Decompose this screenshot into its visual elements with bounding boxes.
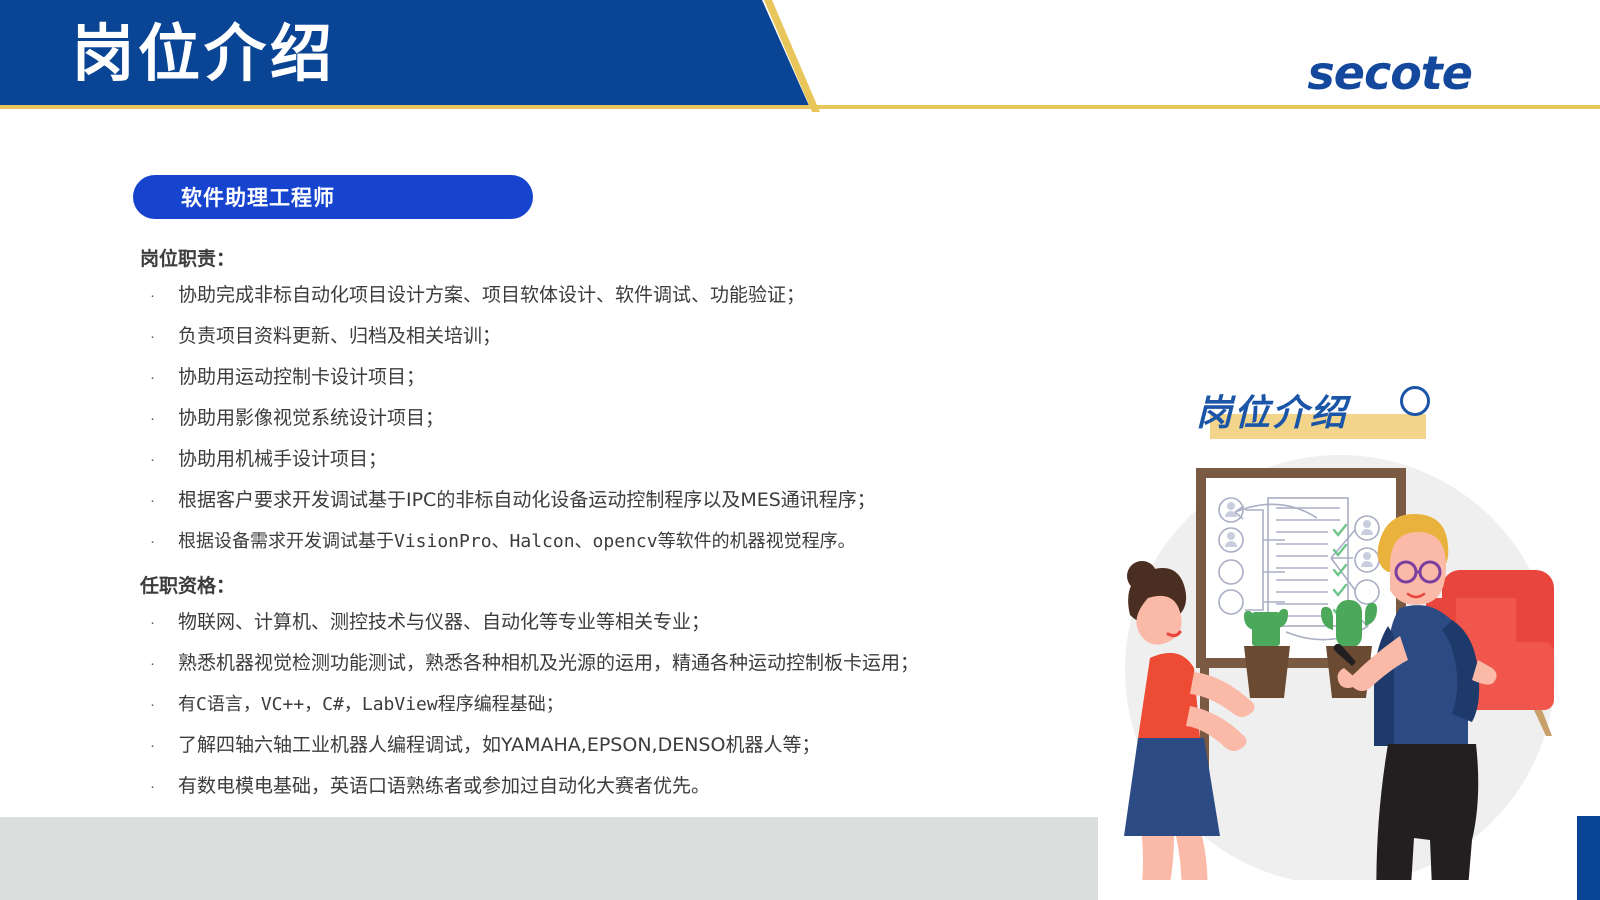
list-item: · 协助用影像视觉系统设计项目； bbox=[140, 398, 1100, 439]
list-item: · 熟悉机器视觉检测功能测试，熟悉各种相机及光源的运用，精通各种运动控制板卡运用… bbox=[140, 643, 1100, 684]
list-item: · 协助完成非标自动化项目设计方案、项目软体设计、软件调试、功能验证； bbox=[140, 275, 1100, 316]
header-banner: 岗位介绍 secote bbox=[0, 0, 1600, 112]
section-heading-qualifications: 任职资格： bbox=[140, 571, 1100, 602]
list-item-text: 物联网、计算机、测控技术与仪器、自动化等专业等相关专业； bbox=[178, 602, 710, 643]
list-item: · 根据设备需求开发调试基于VisionPro、Halcon、opencv等软件… bbox=[140, 521, 1100, 562]
list-item: · 了解四轴六轴工业机器人编程调试，如YAMAHA,EPSON,DENSO机器人… bbox=[140, 725, 1100, 766]
list-item-text: 有C语言，VC++，C#，LabView程序编程基础； bbox=[178, 684, 564, 725]
list-item-text: 协助用机械手设计项目； bbox=[178, 439, 387, 480]
list-item: · 物联网、计算机、测控技术与仪器、自动化等专业等相关专业； bbox=[140, 602, 1100, 643]
list-item-text: 协助用运动控制卡设计项目； bbox=[178, 357, 425, 398]
header-gold-underline bbox=[0, 105, 1600, 109]
bullet-marker-icon: · bbox=[140, 684, 178, 725]
illustration-title-text: 岗位介绍 bbox=[1196, 386, 1436, 446]
page-title: 岗位介绍 bbox=[72, 8, 336, 100]
illustration-teamwork bbox=[1090, 380, 1590, 880]
bullet-marker-icon: · bbox=[140, 480, 178, 521]
bullet-marker-icon: · bbox=[140, 521, 178, 562]
list-item-text: 协助用影像视觉系统设计项目； bbox=[178, 398, 444, 439]
bullet-marker-icon: · bbox=[140, 439, 178, 480]
slide-root: 岗位介绍 secote 软件助理工程师 岗位职责： · 协助完成非标自动化项目设… bbox=[0, 0, 1600, 900]
bullet-marker-icon: · bbox=[140, 643, 178, 684]
bullet-marker-icon: · bbox=[140, 357, 178, 398]
list-item-text: 负责项目资料更新、归档及相关培训； bbox=[178, 316, 501, 357]
list-item-text: 了解四轴六轴工业机器人编程调试，如YAMAHA,EPSON,DENSO机器人等； bbox=[178, 725, 820, 766]
list-item: · 根据客户要求开发调试基于IPC的非标自动化设备运动控制程序以及MES通讯程序… bbox=[140, 480, 1100, 521]
bullet-marker-icon: · bbox=[140, 602, 178, 643]
bottom-right-blue-block bbox=[1577, 816, 1600, 900]
bullet-marker-icon: · bbox=[140, 398, 178, 439]
bullet-marker-icon: · bbox=[140, 725, 178, 766]
bullet-marker-icon: · bbox=[140, 766, 178, 807]
job-title-label: 软件助理工程师 bbox=[181, 182, 335, 212]
list-item-text: 协助完成非标自动化项目设计方案、项目软体设计、软件调试、功能验证； bbox=[178, 275, 805, 316]
list-item-text: 熟悉机器视觉检测功能测试，熟悉各种相机及光源的运用，精通各种运动控制板卡运用； bbox=[178, 643, 919, 684]
illustration-title-graphic: 岗位介绍 bbox=[1196, 386, 1436, 446]
job-description-content: 岗位职责： · 协助完成非标自动化项目设计方案、项目软体设计、软件调试、功能验证… bbox=[140, 244, 1100, 848]
list-item: · 负责项目资料更新、归档及相关培训； bbox=[140, 316, 1100, 357]
job-title-pill[interactable]: 软件助理工程师 bbox=[133, 175, 533, 219]
bullet-marker-icon: · bbox=[140, 316, 178, 357]
section-heading-responsibilities: 岗位职责： bbox=[140, 244, 1100, 275]
bullet-marker-icon: · bbox=[140, 275, 178, 316]
bottom-gray-band bbox=[0, 817, 1098, 900]
list-item-text: 有数电模电基础，英语口语熟练者或参加过自动化大赛者优先。 bbox=[178, 766, 710, 807]
list-item: · 有C语言，VC++，C#，LabView程序编程基础； bbox=[140, 684, 1100, 725]
list-item: · 有数电模电基础，英语口语熟练者或参加过自动化大赛者优先。 bbox=[140, 766, 1100, 807]
cactus-plant-left bbox=[1244, 609, 1290, 698]
brand-logo: secote bbox=[1307, 46, 1472, 100]
list-item: · 协助用运动控制卡设计项目； bbox=[140, 357, 1100, 398]
list-item-text: 根据设备需求开发调试基于VisionPro、Halcon、opencv等软件的机… bbox=[178, 521, 856, 562]
list-item-text: 根据客户要求开发调试基于IPC的非标自动化设备运动控制程序以及MES通讯程序； bbox=[178, 480, 876, 521]
list-item: · 协助用机械手设计项目； bbox=[140, 439, 1100, 480]
